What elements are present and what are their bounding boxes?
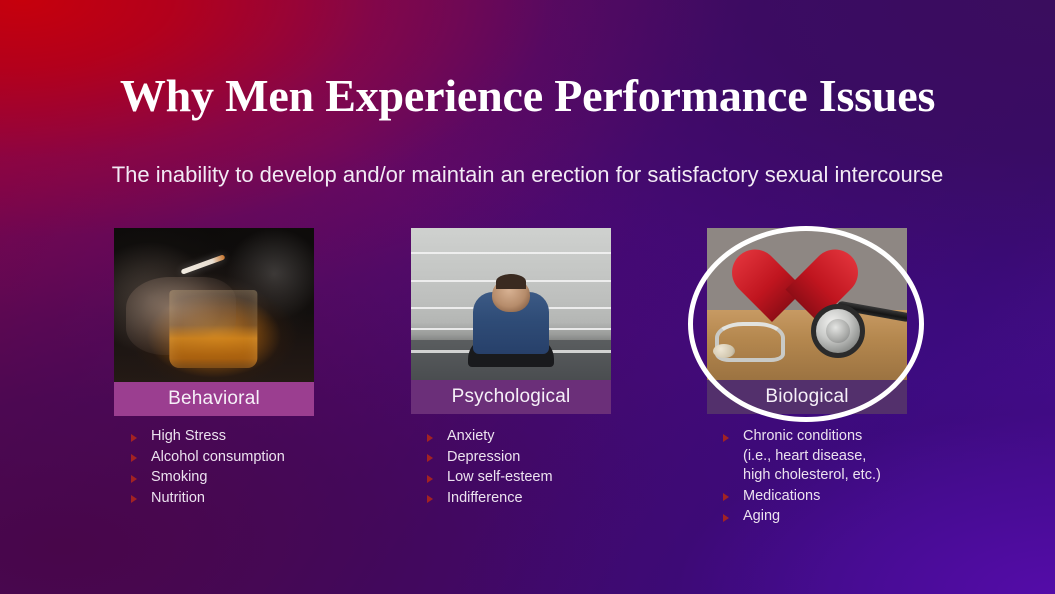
bullet-list-biological: Chronic conditions (i.e., heart disease,… <box>714 427 954 528</box>
list-item-label: Depression <box>447 449 520 465</box>
cigarette-shape <box>181 254 226 274</box>
list-item: Anxiety <box>418 427 648 447</box>
arrow-bullet-icon <box>131 495 137 503</box>
page-subtitle: The inability to develop and/or maintain… <box>95 160 960 190</box>
list-item-label: Nutrition <box>151 490 205 506</box>
hair-shape <box>496 274 526 289</box>
list-item-label: High Stress <box>151 428 226 444</box>
card-behavioral[interactable]: Behavioral <box>114 228 314 416</box>
image-alcohol-cigarette <box>114 228 314 382</box>
bullet-list-psychological: Anxiety Depression Low self-esteem Indif… <box>418 427 648 509</box>
bullet-list-behavioral: High Stress Alcohol consumption Smoking … <box>122 427 352 509</box>
stethoscope-diaphragm-shape <box>826 319 850 343</box>
list-item: Low self-esteem <box>418 468 648 488</box>
list-psychological: Anxiety Depression Low self-esteem Indif… <box>418 427 648 508</box>
list-item: Smoking <box>122 468 352 488</box>
image-depressed-man <box>411 228 611 380</box>
list-item-label: Medications <box>743 488 820 504</box>
list-item-label: Aging <box>743 508 780 524</box>
list-item-label: Low self-esteem <box>447 469 553 485</box>
list-item-label: Smoking <box>151 469 207 485</box>
list-behavioral: High Stress Alcohol consumption Smoking … <box>122 427 352 508</box>
list-item: Chronic conditions (i.e., heart disease,… <box>714 427 954 486</box>
arrow-bullet-icon <box>427 475 433 483</box>
list-item-label: Indifference <box>447 490 523 506</box>
image-heart-stethoscope <box>707 228 907 380</box>
card-psychological[interactable]: Psychological <box>411 228 611 414</box>
list-item-sublabel: (i.e., heart disease, <box>743 447 954 467</box>
list-item-sublabel: high cholesterol, etc.) <box>743 466 954 486</box>
arrow-bullet-icon <box>427 434 433 442</box>
card-label-behavioral: Behavioral <box>114 382 314 416</box>
arrow-bullet-icon <box>131 475 137 483</box>
card-label-psychological: Psychological <box>411 380 611 414</box>
card-label-biological: Biological <box>707 380 907 414</box>
list-item-label: Alcohol consumption <box>151 449 285 465</box>
arrow-bullet-icon <box>427 454 433 462</box>
list-item: High Stress <box>122 427 352 447</box>
list-item: Depression <box>418 448 648 468</box>
arrow-bullet-icon <box>131 434 137 442</box>
list-item: Nutrition <box>122 489 352 509</box>
list-item: Medications <box>714 487 954 507</box>
card-biological[interactable]: Biological <box>707 228 907 414</box>
list-item: Alcohol consumption <box>122 448 352 468</box>
arrow-bullet-icon <box>723 493 729 501</box>
list-item: Indifference <box>418 489 648 509</box>
page-title: Why Men Experience Performance Issues <box>0 72 1055 120</box>
wall-line <box>411 252 611 254</box>
stethoscope-eartip-shape <box>713 344 735 358</box>
arrow-bullet-icon <box>723 434 729 442</box>
list-biological: Chronic conditions (i.e., heart disease,… <box>714 427 954 527</box>
list-item-label: Anxiety <box>447 428 495 444</box>
list-item: Aging <box>714 507 954 527</box>
whiskey-glass-shape <box>169 290 257 368</box>
list-item-label: Chronic conditions <box>743 428 862 444</box>
arrow-bullet-icon <box>131 454 137 462</box>
slide-canvas: Why Men Experience Performance Issues Th… <box>0 0 1055 594</box>
arrow-bullet-icon <box>723 514 729 522</box>
arrow-bullet-icon <box>427 495 433 503</box>
